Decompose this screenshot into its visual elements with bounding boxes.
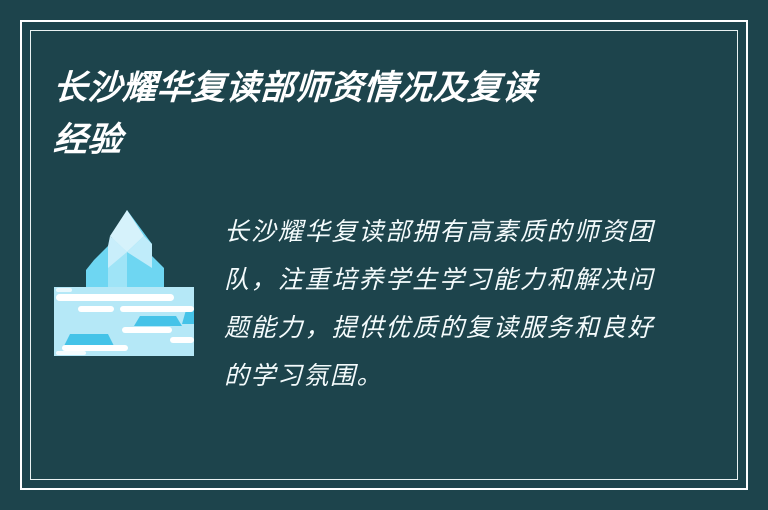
title-line-2: 经验 bbox=[52, 114, 675, 166]
article-card: 长沙耀华复读部师资情况及复读 经验 bbox=[0, 0, 768, 510]
page-title: 长沙耀华复读部师资情况及复读 经验 bbox=[52, 62, 672, 166]
title-line-1: 长沙耀华复读部师资情况及复读 bbox=[52, 62, 675, 114]
body-text-block: 长沙耀华复读部拥有高素质的师资团队，注重培养学生学习能力和解决问题能力，提供优质… bbox=[224, 208, 654, 400]
body-paragraph: 长沙耀华复读部拥有高素质的师资团队，注重培养学生学习能力和解决问题能力，提供优质… bbox=[224, 208, 654, 400]
iceberg-illustration bbox=[52, 198, 194, 356]
